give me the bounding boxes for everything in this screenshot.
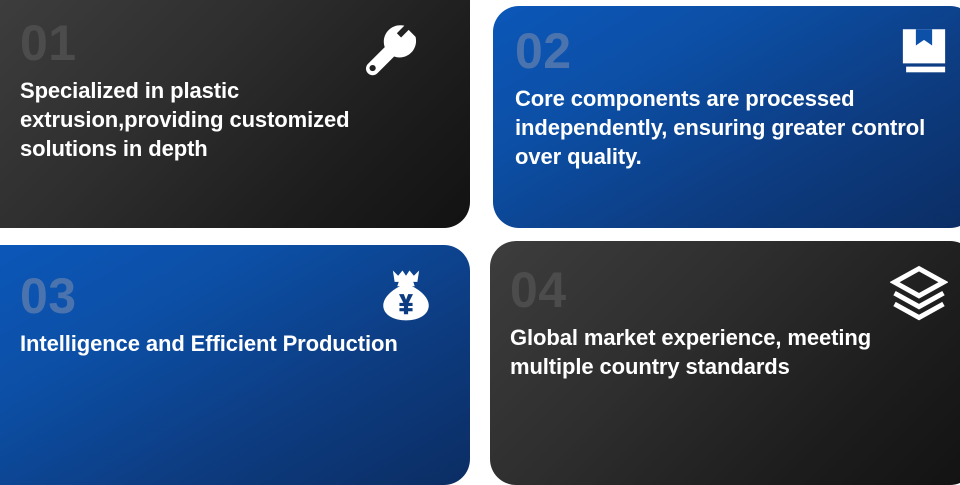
card-surface: 04 Global market experience, meeting mul…: [490, 241, 960, 485]
bookmarked-book-icon: [898, 26, 950, 78]
card-surface: 01 Specialized in plastic extrusion,prov…: [0, 0, 470, 228]
card-number: 01: [20, 18, 420, 68]
card-surface: 02 Core components are processed indepen…: [493, 6, 960, 228]
card-number: 04: [510, 265, 948, 315]
card-text: Specialized in plastic extrusion,providi…: [20, 76, 420, 163]
feature-card-03[interactable]: 03 Intelligence and Efficient Production: [0, 245, 470, 485]
card-text: Intelligence and Efficient Production: [20, 329, 420, 358]
feature-card-04[interactable]: 04 Global market experience, meeting mul…: [490, 241, 960, 485]
money-bag-yen-icon: [378, 267, 434, 323]
wrench-icon: [364, 24, 418, 78]
feature-card-02[interactable]: 02 Core components are processed indepen…: [493, 6, 960, 228]
feature-card-01[interactable]: 01 Specialized in plastic extrusion,prov…: [0, 0, 470, 228]
card-text: Core components are processed independen…: [515, 84, 948, 171]
feature-card-grid: 01 Specialized in plastic extrusion,prov…: [0, 0, 960, 459]
layers-stack-icon: [890, 265, 948, 323]
card-text: Global market experience, meeting multip…: [510, 323, 910, 381]
card-number: 02: [515, 26, 948, 76]
card-surface: 03 Intelligence and Efficient Production: [0, 245, 470, 485]
